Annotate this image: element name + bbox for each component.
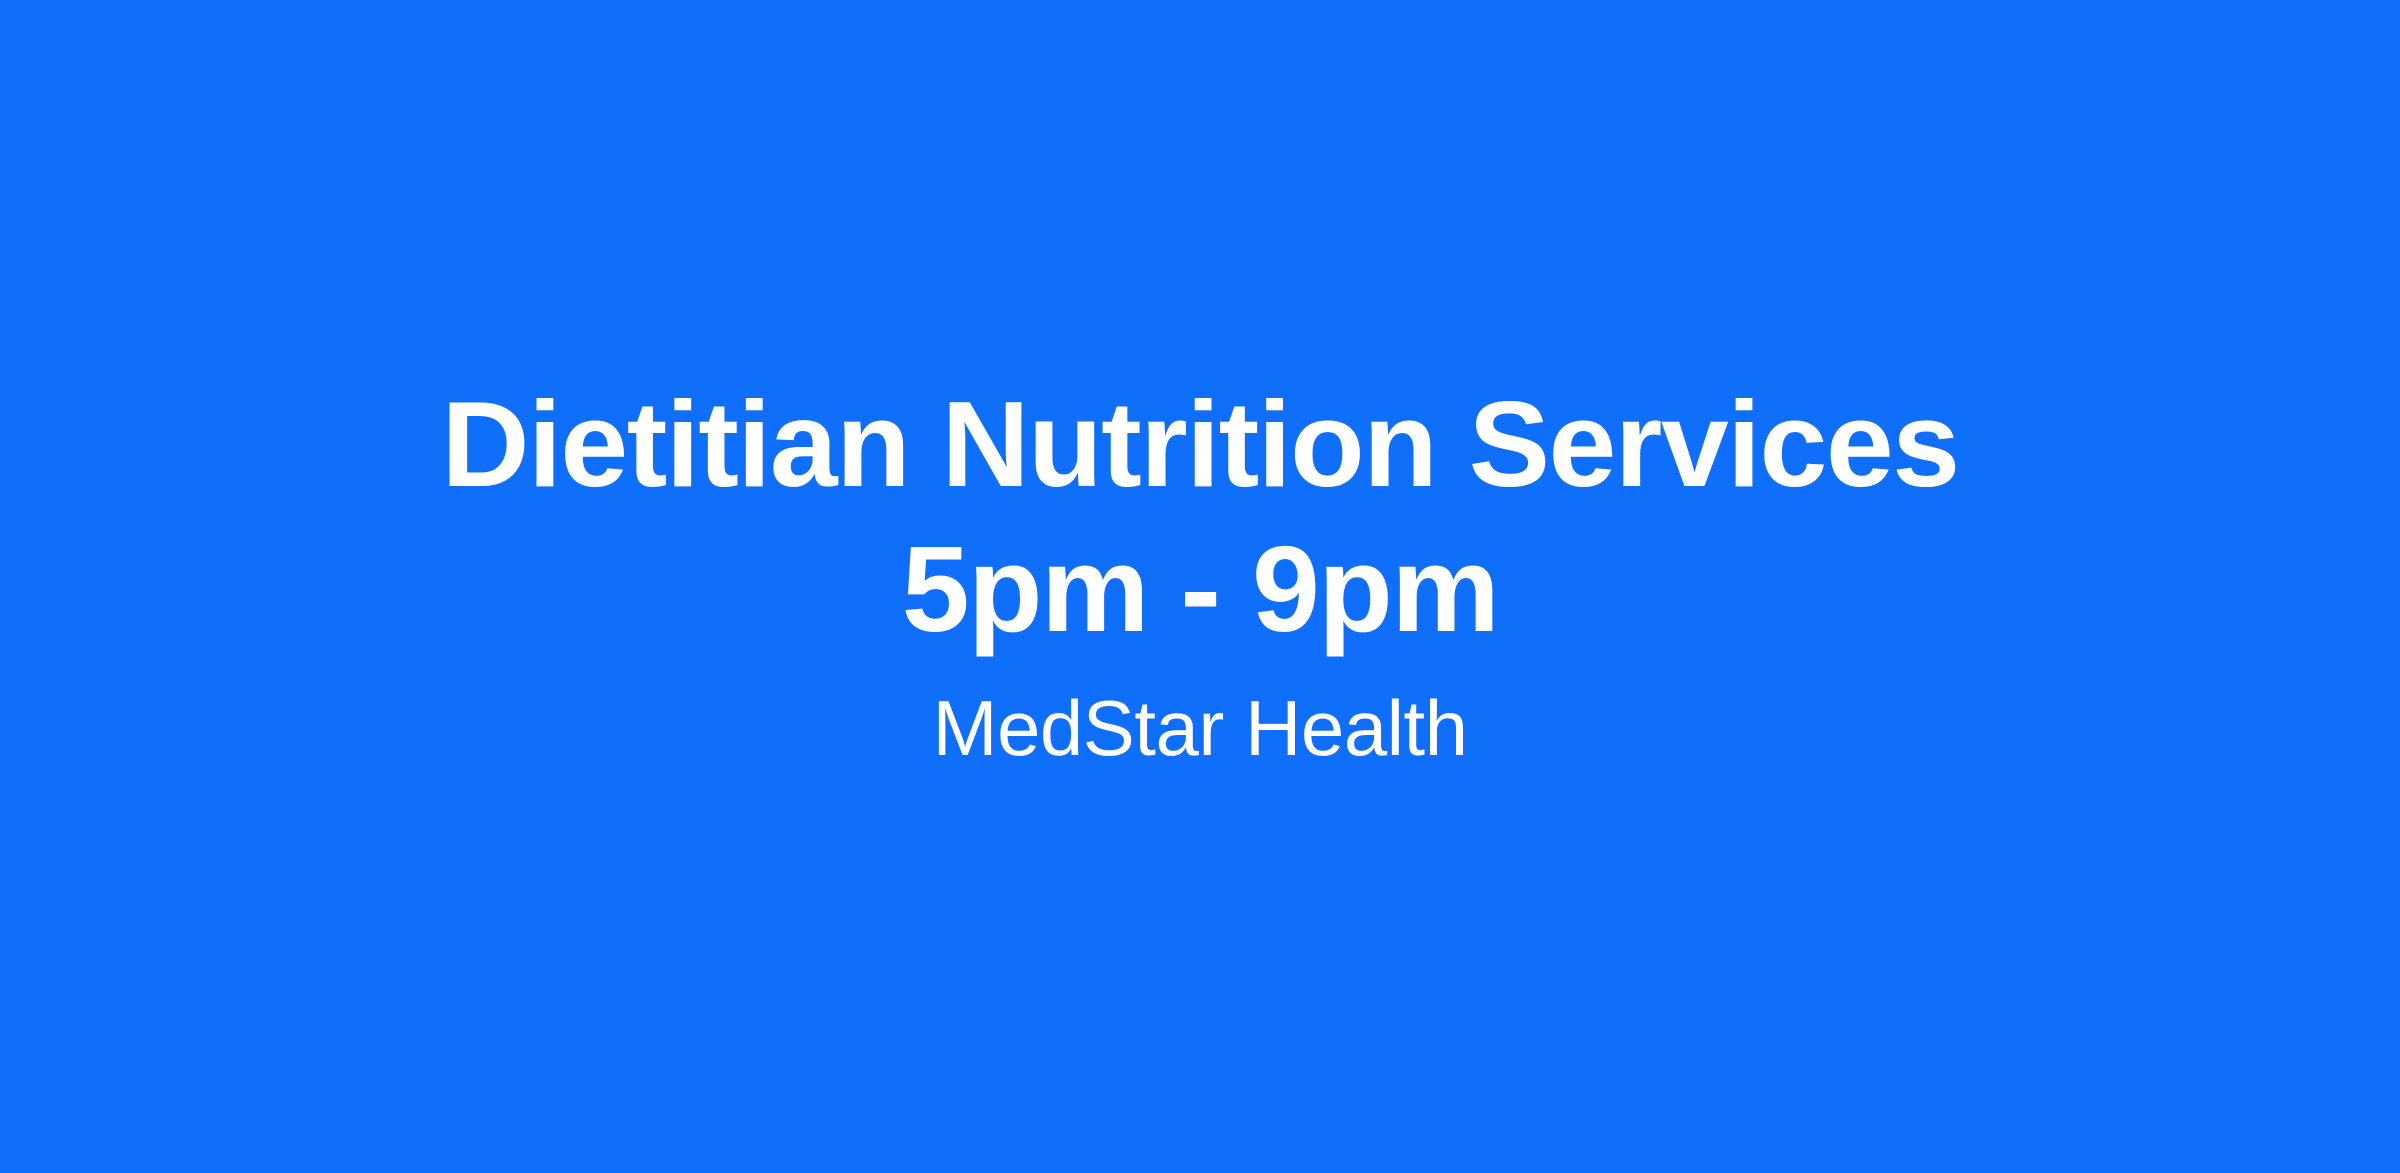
organization-name: MedStar Health — [80, 680, 2320, 776]
slide-text-block: Dietitian Nutrition Services 5pm - 9pm M… — [0, 372, 2400, 776]
page-title-line-1: Dietitian Nutrition Services — [80, 372, 2320, 517]
page-title: Dietitian Nutrition Services 5pm - 9pm — [80, 372, 2320, 662]
announcement-slide: Dietitian Nutrition Services 5pm - 9pm M… — [0, 0, 2400, 1173]
page-title-line-2: 5pm - 9pm — [80, 517, 2320, 662]
